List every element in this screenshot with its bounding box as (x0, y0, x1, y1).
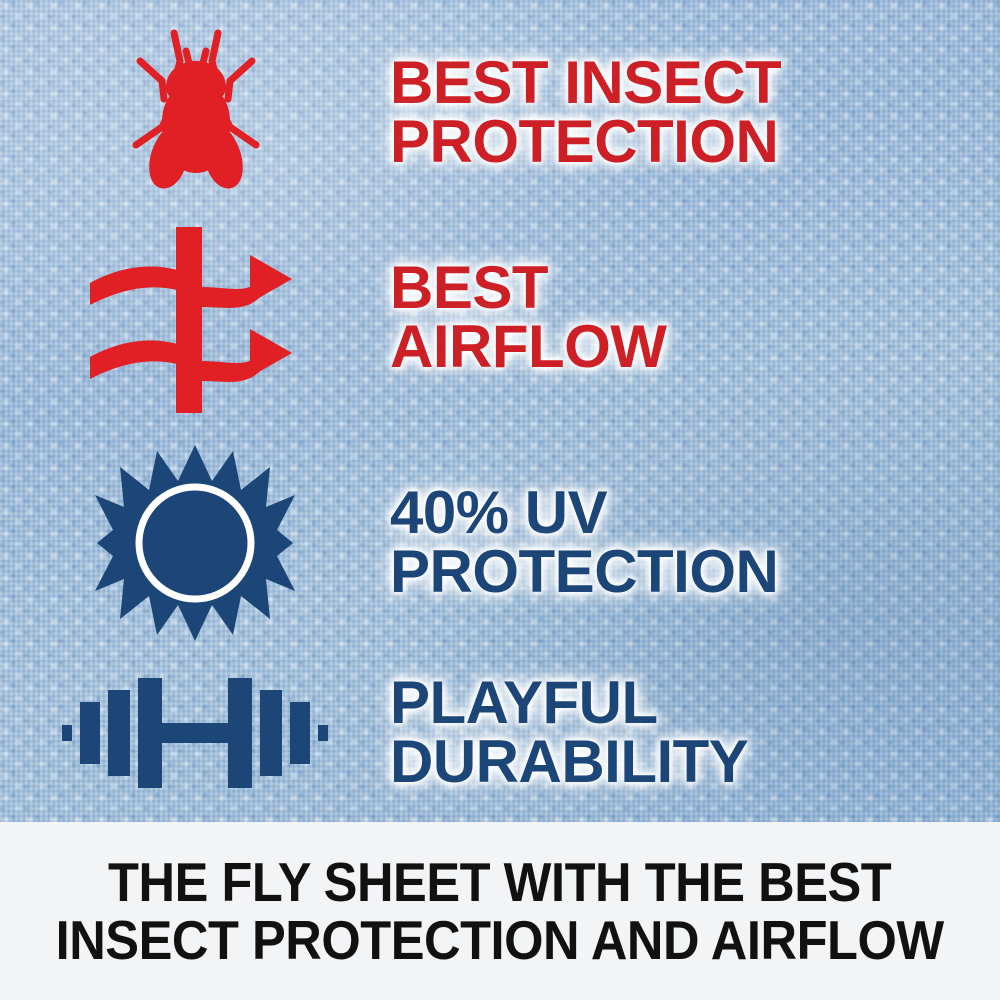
sun-uv-icon (95, 443, 295, 643)
text-cell-uv: 40% UV PROTECTION (390, 484, 1000, 602)
feature-row-airflow: BEST AIRFLOW (0, 218, 1000, 418)
icon-cell-insect (0, 23, 390, 203)
feature-list: BEST INSECT PROTECTION (0, 0, 1000, 822)
text-cell-durability: PLAYFUL DURABILITY (390, 674, 1000, 792)
tagline-text: THE FLY SHEET WITH THE BEST INSECT PROTE… (56, 853, 944, 970)
feature-row-durability: PLAYFUL DURABILITY (0, 648, 1000, 818)
dumbbell-icon (60, 668, 330, 798)
airflow-icon (70, 221, 320, 416)
text-cell-insect: BEST INSECT PROTECTION (390, 54, 1000, 172)
feature-label-uv-protection: 40% UV PROTECTION (390, 484, 976, 602)
fly-icon (110, 23, 280, 203)
feature-label-insect-protection: BEST INSECT PROTECTION (390, 54, 976, 172)
feature-label-airflow: BEST AIRFLOW (390, 259, 976, 377)
feature-label-durability: PLAYFUL DURABILITY (390, 674, 976, 792)
icon-cell-uv (0, 443, 390, 643)
feature-row-insect-protection: BEST INSECT PROTECTION (0, 18, 1000, 208)
bottom-tagline-banner: THE FLY SHEET WITH THE BEST INSECT PROTE… (0, 822, 1000, 1000)
feature-row-uv-protection: 40% UV PROTECTION (0, 438, 1000, 648)
icon-cell-airflow (0, 221, 390, 416)
product-feature-infographic: BEST INSECT PROTECTION (0, 0, 1000, 1000)
icon-cell-durability (0, 668, 390, 798)
text-cell-airflow: BEST AIRFLOW (390, 259, 1000, 377)
